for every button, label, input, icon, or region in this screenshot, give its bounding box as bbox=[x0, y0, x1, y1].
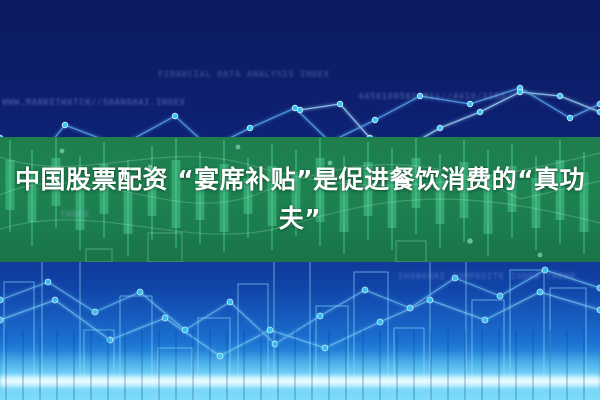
decorative-ghost-text: 44561805011011//4410/1165 bbox=[358, 92, 506, 102]
finance-banner: WWW.MARKETWATCH//SHANGHAI.INDEXFINANCIAL… bbox=[0, 0, 600, 400]
decorative-ghost-text: SHANGHAI COMPOSITE INDEX TREND bbox=[398, 272, 576, 282]
decorative-ghost-text: WWW.MARKETWATCH//SHANGHAI.INDEX bbox=[2, 98, 185, 108]
decorative-ghost-text: FINANCIAL DATA ANALYSIS INDEX bbox=[158, 70, 330, 80]
page-title: 中国股票配资 “宴席补贴”是促进餐饮消费的“真功夫” bbox=[0, 160, 600, 238]
